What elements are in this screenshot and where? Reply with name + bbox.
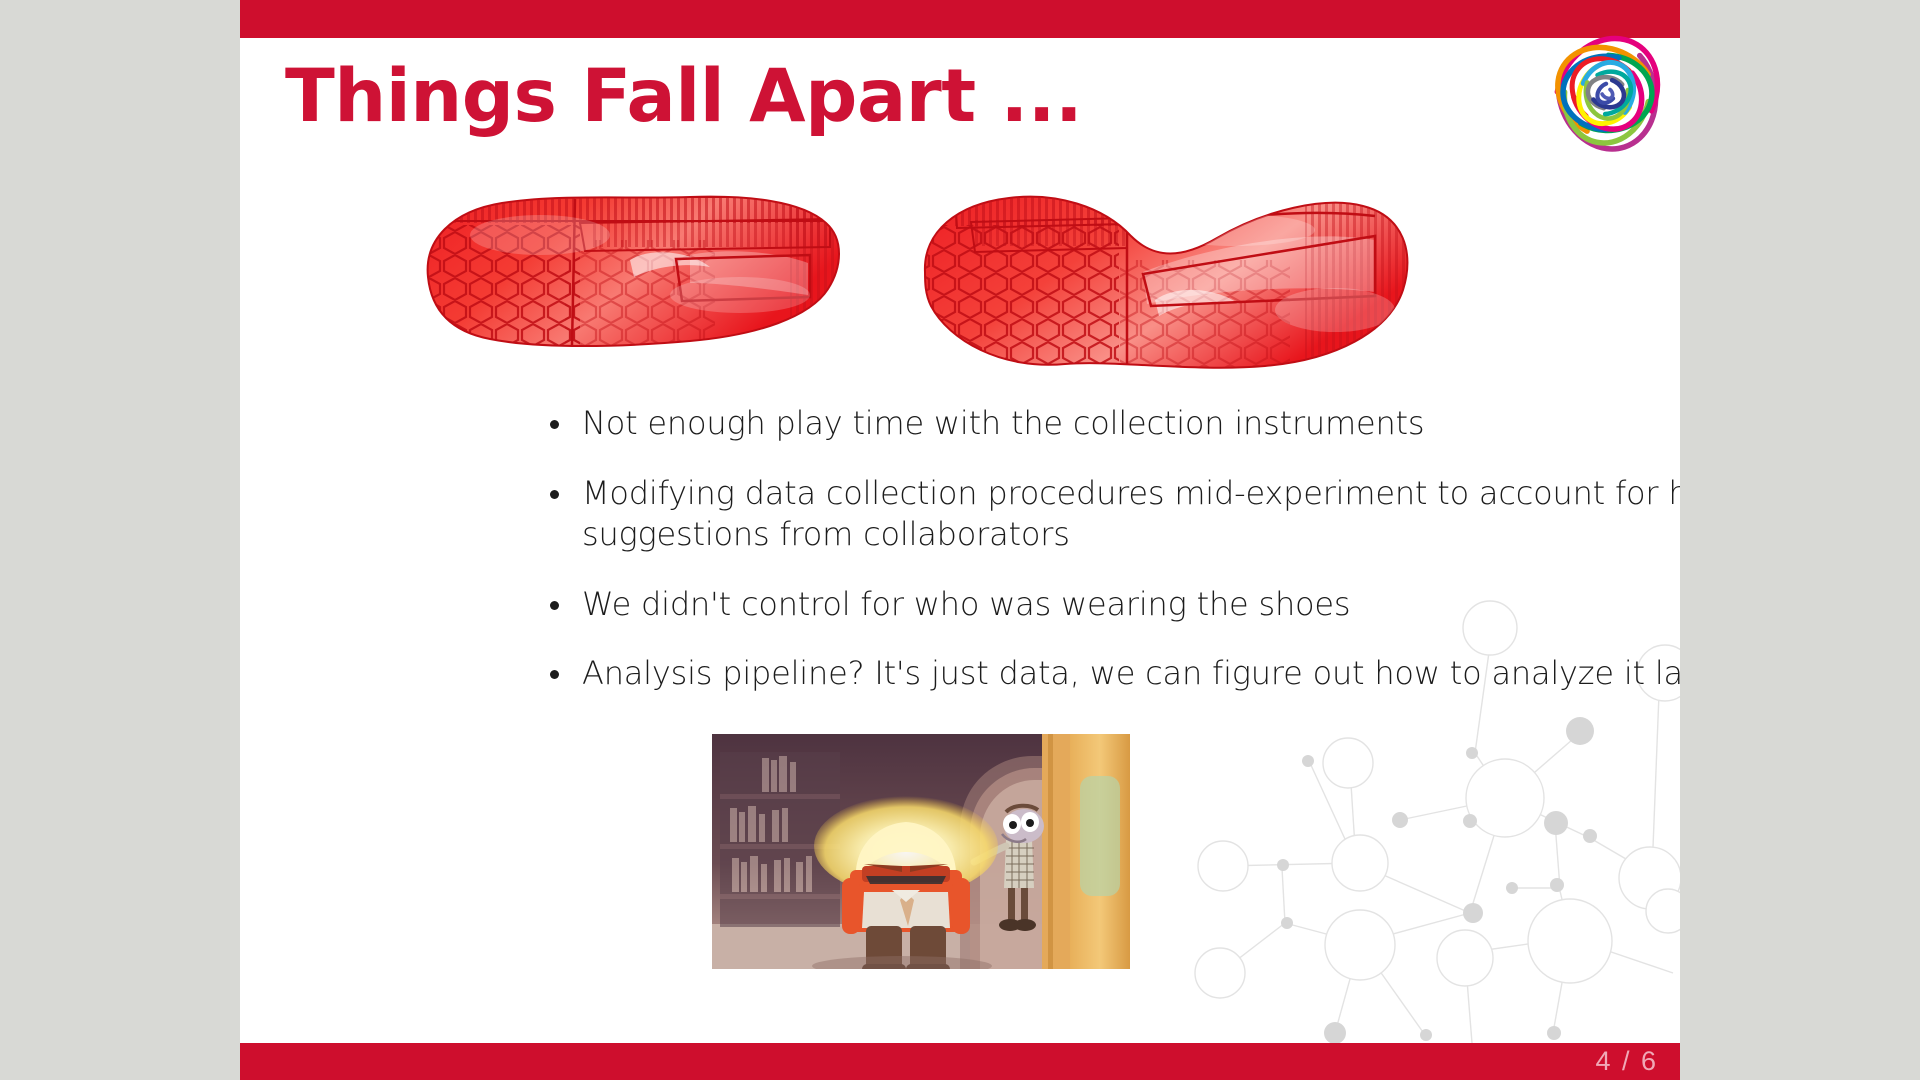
shoe-outsole-image-left (390, 185, 850, 360)
inside-out-anger-image (712, 734, 1130, 969)
rainbow-swirl-logo-icon (1552, 32, 1662, 152)
page-title: Things Fall Apart ... (285, 60, 1082, 133)
bullet-list: Not enough play time with the collection… (540, 403, 1680, 723)
presentation-slide: Things Fall Apart ... (240, 0, 1680, 1080)
list-item: We didn't control for who was wearing th… (540, 584, 1680, 626)
list-item: Not enough play time with the collection… (540, 403, 1680, 445)
top-accent-bar (240, 0, 1680, 38)
list-item: Modifying data collection procedures mid… (540, 473, 1680, 556)
screen: Things Fall Apart ... (0, 0, 1920, 1080)
list-item: Analysis pipeline? It's just data, we ca… (540, 653, 1680, 695)
bottom-accent-bar: 4 / 6 (240, 1043, 1680, 1080)
shoe-outsole-image-right (905, 180, 1425, 380)
page-number: 4 / 6 (1595, 1046, 1658, 1077)
